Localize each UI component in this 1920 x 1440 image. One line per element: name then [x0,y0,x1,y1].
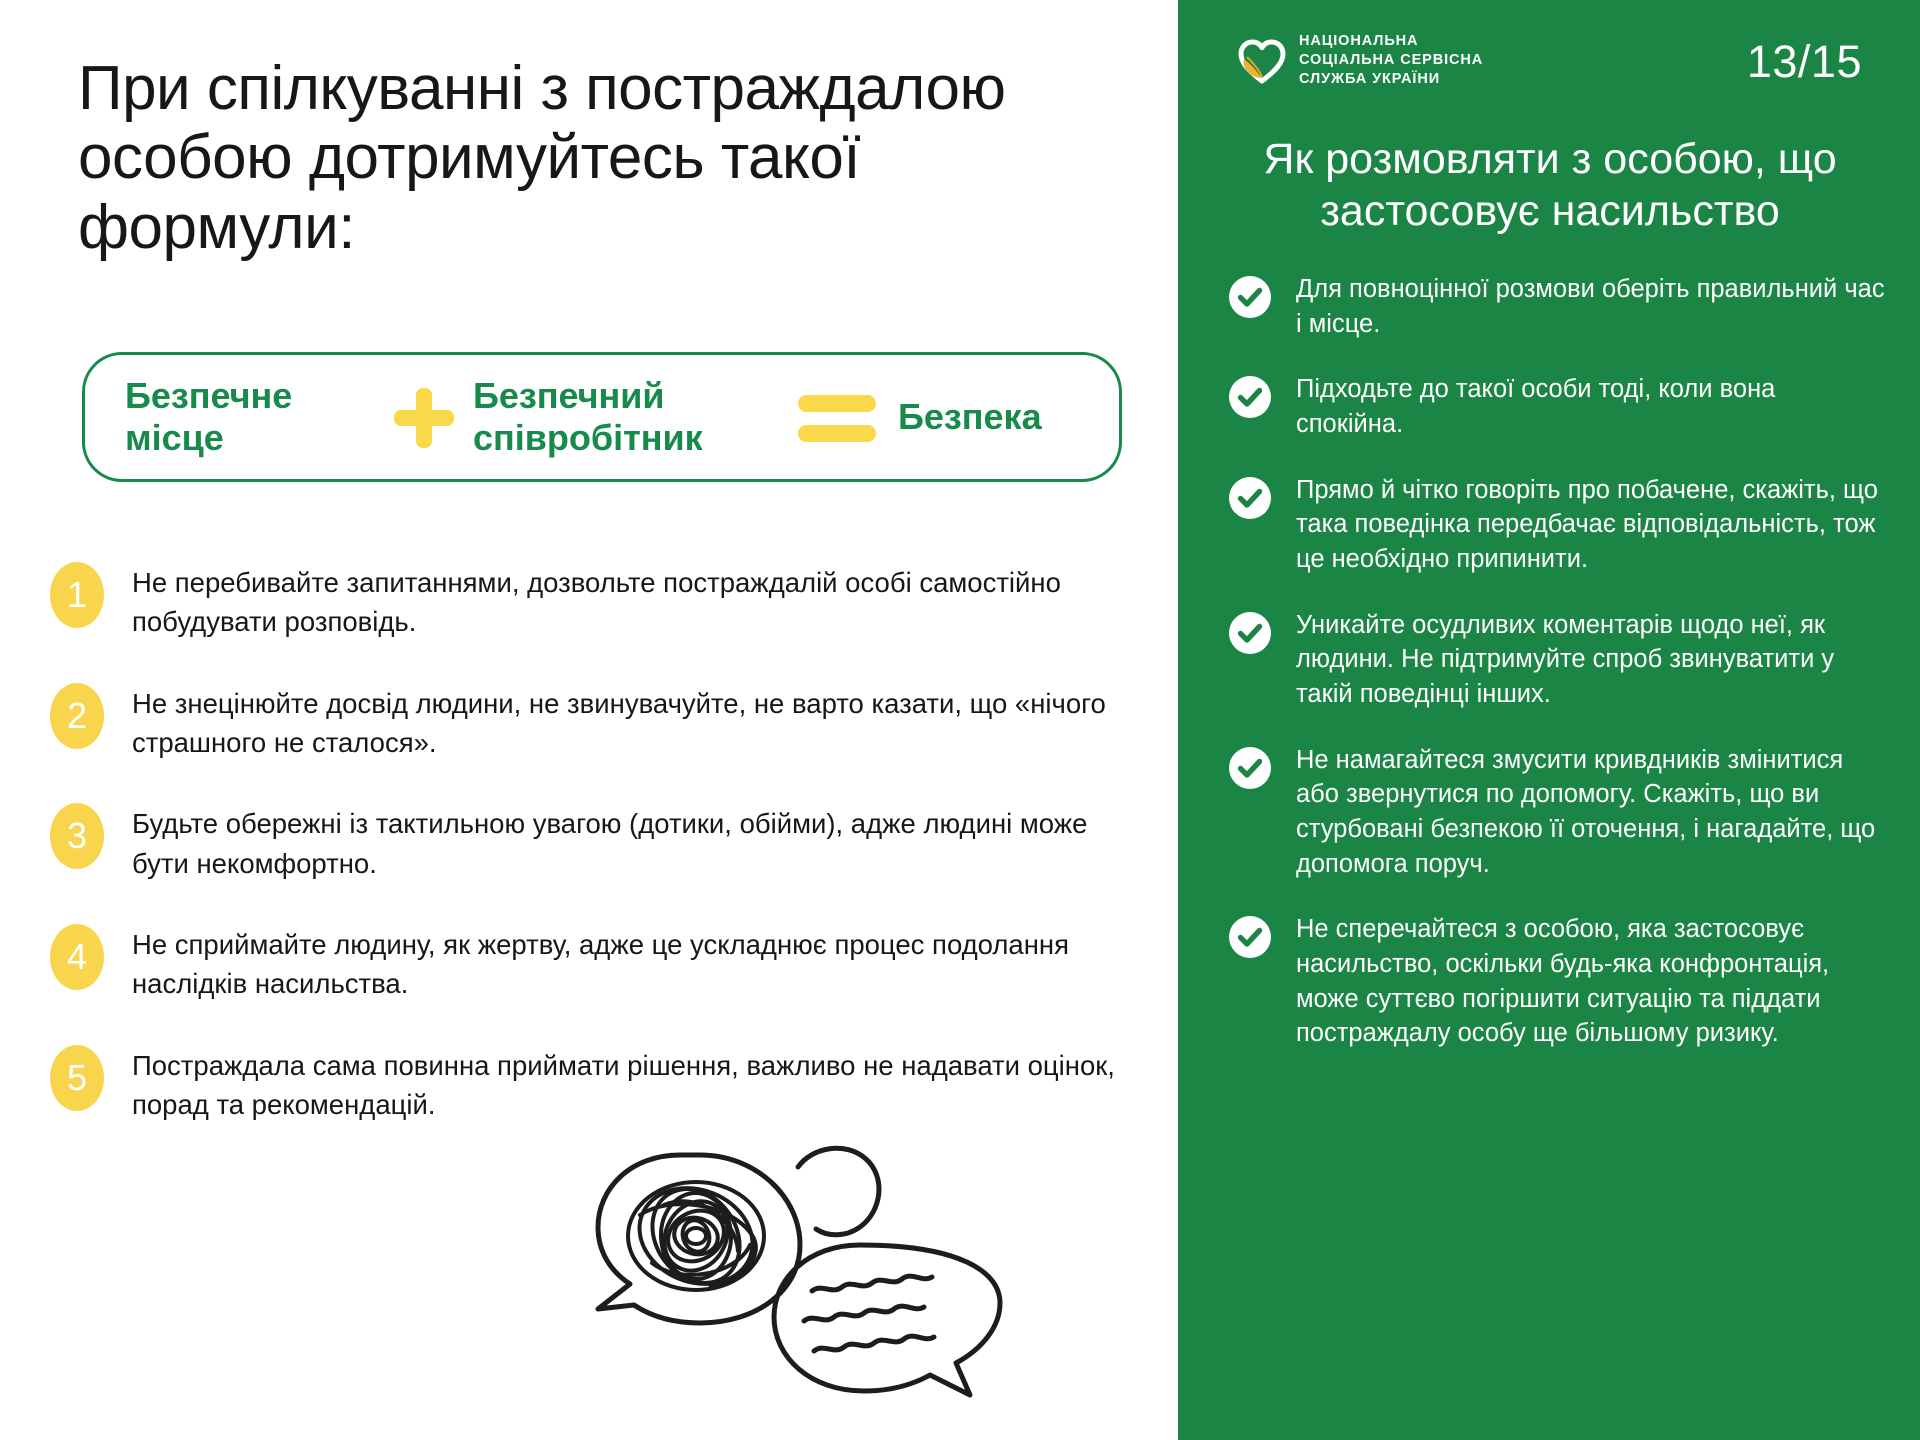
list-item-text: Не сприймайте людину, як жертву, адже це… [132,922,1132,1004]
list-item: Не сперечайтеся з особою, яка застосовує… [1228,912,1888,1051]
check-circle-icon [1228,375,1272,419]
brand-line-1: НАЦІОНАЛЬНА [1299,33,1418,49]
equals-sign-icon [798,389,876,445]
list-item: 1 Не перебивайте запитаннями, дозвольте … [50,560,1140,642]
page-number: 13/15 [1747,36,1862,88]
safety-formula-box: Безпечне місце Безпечний співробітник Бе… [82,352,1122,482]
slide-root: При спілкуванні з постраждалою особою до… [0,0,1920,1440]
brand-line-3: СЛУЖБА УКРАЇНИ [1299,71,1440,87]
list-item-text: Не перебивайте запитаннями, дозвольте по… [132,560,1132,642]
left-panel: При спілкуванні з постраждалою особою до… [0,0,1178,1440]
list-item-text: Для повноцінної розмови оберіть правильн… [1296,272,1888,341]
list-item: Прямо й чітко говоріть про побачене, ска… [1228,473,1888,577]
formula-term-safe-worker: Безпечний співробітник [473,375,768,460]
list-item: 4 Не сприймайте людину, як жертву, адже … [50,922,1140,1004]
brand-block: НАЦІОНАЛЬНА СОЦІАЛЬНА СЕРВІСНА СЛУЖБА УК… [1238,32,1483,89]
list-item: 2 Не знецінюйте досвід людини, не звинув… [50,681,1140,763]
check-circle-icon [1228,915,1272,959]
list-item-text: Будьте обережні із тактильною увагою (до… [132,801,1132,883]
speech-bubbles-illustration [560,1095,1040,1425]
list-item: Не намагайтеся змусити кривдників змінит… [1228,743,1888,882]
list-number-badge: 5 [50,1045,104,1111]
check-circle-icon [1228,275,1272,319]
check-circle-icon [1228,746,1272,790]
plus-sign-icon [389,382,459,452]
list-item-text: Не намагайтеся змусити кривдників змінит… [1296,743,1888,882]
check-circle-icon [1228,611,1272,655]
checklist: Для повноцінної розмови оберіть правильн… [1228,272,1888,1082]
brand-line-2: СОЦІАЛЬНА СЕРВІСНА [1299,52,1483,68]
list-item-text: Прямо й чітко говоріть про побачене, ска… [1296,473,1888,577]
list-number-badge: 1 [50,562,104,628]
formula-term-safety: Безпека [898,396,1128,438]
list-item-text: Не знецінюйте досвід людини, не звинувач… [132,681,1132,763]
brand-text: НАЦІОНАЛЬНА СОЦІАЛЬНА СЕРВІСНА СЛУЖБА УК… [1299,32,1483,89]
list-number-badge: 4 [50,924,104,990]
list-item: 3 Будьте обережні із тактильною увагою (… [50,801,1140,883]
formula-term-safe-place: Безпечне місце [125,375,375,460]
list-item-text: Уникайте осудливих коментарів щодо неї, … [1296,608,1888,712]
list-number-badge: 2 [50,683,104,749]
list-item: Для повноцінної розмови оберіть правильн… [1228,272,1888,341]
right-panel: НАЦІОНАЛЬНА СОЦІАЛЬНА СЕРВІСНА СЛУЖБА УК… [1178,0,1920,1440]
right-panel-title: Як розмовляти з особою, що застосовує на… [1220,133,1880,238]
list-number-badge: 3 [50,803,104,869]
numbered-recommendation-list: 1 Не перебивайте запитаннями, дозвольте … [50,560,1140,1163]
list-item-text: Підходьте до такої особи тоді, коли вона… [1296,372,1888,441]
list-item: Підходьте до такої особи тоді, коли вона… [1228,372,1888,441]
list-item-text: Не сперечайтеся з особою, яка застосовує… [1296,912,1888,1051]
heart-wheat-logo-icon [1238,37,1286,85]
check-circle-icon [1228,476,1272,520]
list-item: Уникайте осудливих коментарів щодо неї, … [1228,608,1888,712]
page-title: При спілкуванні з постраждалою особою до… [78,54,1138,262]
